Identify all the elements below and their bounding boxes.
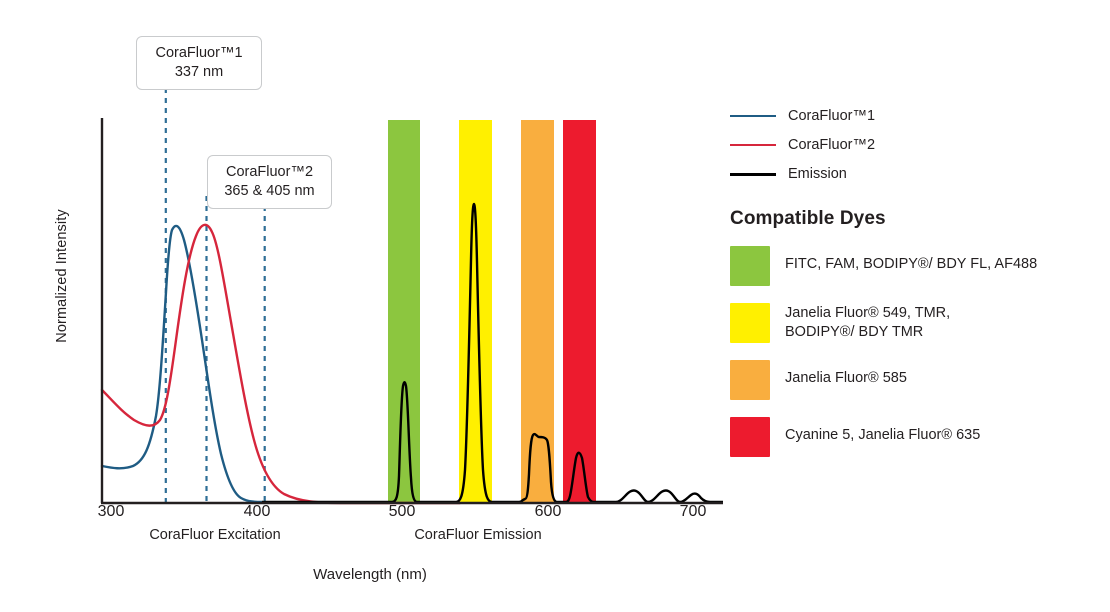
legend-line-corafluor2: [730, 144, 776, 146]
x-tick-600: 600: [513, 503, 583, 521]
legend-item-corafluor1: CoraFluor™1: [730, 108, 1100, 124]
spectral-chart-figure: Normalized Intensity 300 400 500 600 700…: [0, 0, 1110, 612]
callout-corafluor1: CoraFluor™1 337 nm: [136, 36, 262, 90]
x-tick-700: 700: [658, 503, 728, 521]
legend-item-corafluor2: CoraFluor™2: [730, 137, 1100, 153]
dye-swatch-yellow: [730, 303, 770, 343]
dye-swatch-green: [730, 246, 770, 286]
dye-row-green: FITC, FAM, BODIPY®/ BDY FL, AF488: [730, 246, 1100, 286]
legend-line-emission: [730, 173, 776, 176]
callout-corafluor2-line2: 365 & 405 nm: [220, 182, 319, 201]
band-yellow: [459, 120, 492, 502]
y-axis-label: Normalized Intensity: [54, 176, 70, 376]
band-red: [563, 120, 596, 502]
dye-label-red: Cyanine 5, Janelia Fluor® 635: [785, 417, 980, 445]
callout-corafluor2-line1: CoraFluor™2: [220, 163, 319, 182]
x-group-emission: CoraFluor Emission: [348, 527, 608, 543]
legend-label-corafluor1: CoraFluor™1: [788, 108, 875, 124]
callout-corafluor1-line1: CoraFluor™1: [149, 44, 249, 63]
x-tick-500: 500: [367, 503, 437, 521]
dye-row-yellow: Janelia Fluor® 549, TMR, BODIPY®/ BDY TM…: [730, 303, 1100, 343]
dye-label-orange: Janelia Fluor® 585: [785, 360, 907, 388]
dye-label-green: FITC, FAM, BODIPY®/ BDY FL, AF488: [785, 246, 1037, 274]
dye-label-yellow: Janelia Fluor® 549, TMR, BODIPY®/ BDY TM…: [785, 303, 950, 342]
curve-emission: [262, 204, 723, 502]
band-green: [388, 120, 420, 502]
legend-line-corafluor1: [730, 115, 776, 117]
x-tick-400: 400: [222, 503, 292, 521]
dye-row-orange: Janelia Fluor® 585: [730, 360, 1100, 400]
legend-label-emission: Emission: [788, 166, 847, 182]
dye-swatch-orange: [730, 360, 770, 400]
dye-row-red: Cyanine 5, Janelia Fluor® 635: [730, 417, 1100, 457]
callout-corafluor2: CoraFluor™2 365 & 405 nm: [207, 155, 332, 209]
plot-area: Normalized Intensity 300 400 500 600 700…: [0, 0, 740, 612]
legend-label-corafluor2: CoraFluor™2: [788, 137, 875, 153]
legend-item-emission: Emission: [730, 166, 1100, 182]
legend: CoraFluor™1 CoraFluor™2 Emission Compati…: [730, 108, 1100, 474]
compatible-dyes-heading: Compatible Dyes: [730, 208, 1100, 230]
dye-bands: [388, 120, 596, 502]
excitation-marker-lines: [166, 88, 265, 502]
dye-swatch-red: [730, 417, 770, 457]
x-axis-title: Wavelength (nm): [240, 566, 500, 583]
x-group-excitation: CoraFluor Excitation: [85, 527, 345, 543]
x-tick-300: 300: [76, 503, 146, 521]
callout-corafluor1-line2: 337 nm: [149, 63, 249, 82]
